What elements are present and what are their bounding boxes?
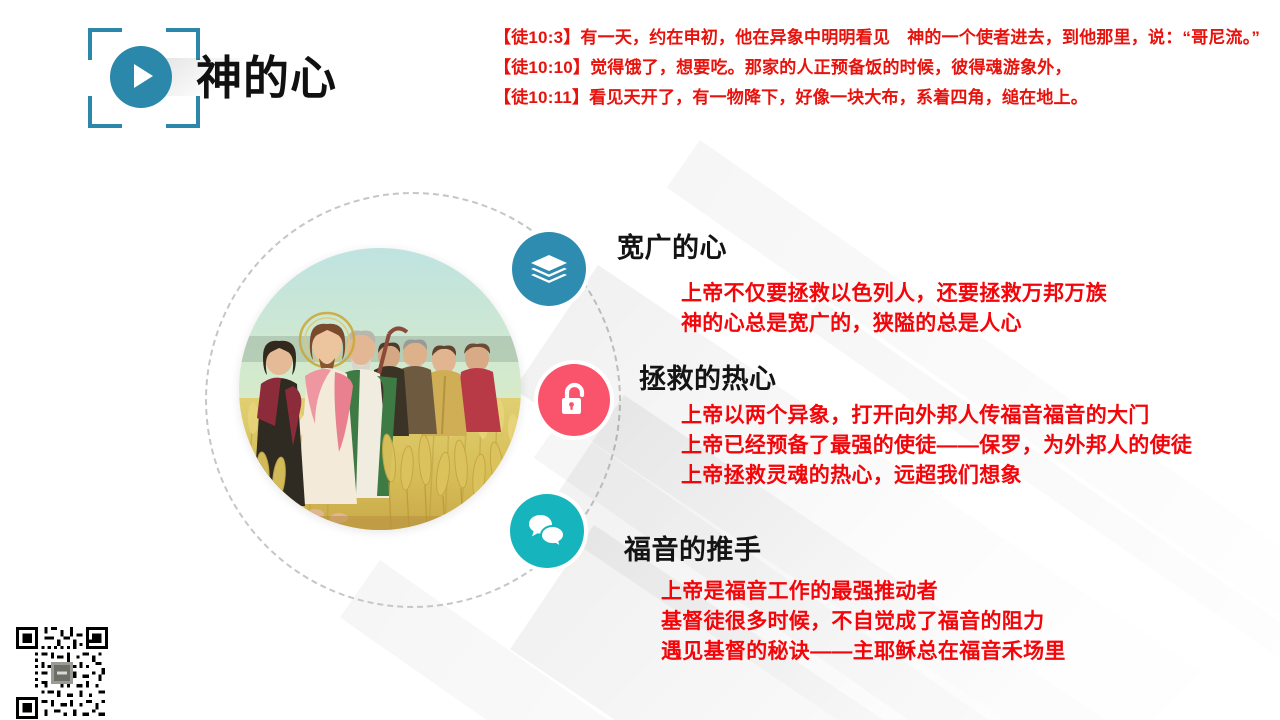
page-title: 神的心 <box>196 42 337 108</box>
layers-icon <box>512 232 586 306</box>
scripture-block: 【徒10:3】有一天，约在申初，他在异象中明明看见 神的一个使者进去，到他那里，… <box>494 26 1280 110</box>
play-button-icon[interactable] <box>110 46 172 108</box>
section-line: 上帝已经预备了最强的使徒——保罗，为外邦人的使徒 <box>681 431 1192 461</box>
section-body-zeal-to-save: 上帝以两个异象，打开向外邦人传福音福音的大门 上帝已经预备了最强的使徒——保罗，… <box>681 401 1192 490</box>
section-body-gospel-promoter: 上帝是福音工作的最强推动者 基督徒很多时候，不自觉成了福音的阻力 遇见基督的秘诀… <box>661 577 1066 666</box>
section-line: 基督徒很多时候，不自觉成了福音的阻力 <box>661 607 1066 637</box>
slide-canvas: 神的心 【徒10:3】有一天，约在申初，他在异象中明明看见 神的一个使者进去，到… <box>0 0 1280 720</box>
hero-photo <box>239 248 521 530</box>
section-node-gospel-promoter[interactable] <box>506 490 588 572</box>
qr-code-icon[interactable] <box>16 627 108 719</box>
brand-logo[interactable] <box>88 28 200 128</box>
section-heading-broad-heart: 宽广的心 <box>617 226 727 265</box>
unlock-icon <box>538 364 610 436</box>
section-body-broad-heart: 上帝不仅要拯救以色列人，还要拯救万邦万族 神的心总是宽广的，狭隘的总是人心 <box>681 279 1107 339</box>
section-line: 神的心总是宽广的，狭隘的总是人心 <box>681 309 1107 339</box>
section-heading-zeal-to-save: 拯救的热心 <box>639 357 777 396</box>
section-line: 上帝不仅要拯救以色列人，还要拯救万邦万族 <box>681 279 1107 309</box>
section-node-broad-heart[interactable] <box>508 228 590 310</box>
section-node-zeal-to-save[interactable] <box>534 360 614 440</box>
section-line: 上帝是福音工作的最强推动者 <box>661 577 1066 607</box>
scripture-line: 【徒10:10】觉得饿了，想要吃。那家的人正预备饭的时候，彼得魂游象外， <box>494 56 1280 80</box>
scripture-line: 【徒10:11】看见天开了，有一物降下，好像一块大布，系着四角，缒在地上。 <box>494 86 1280 110</box>
section-heading-gospel-promoter: 福音的推手 <box>624 528 762 567</box>
section-line: 上帝以两个异象，打开向外邦人传福音福音的大门 <box>681 401 1192 431</box>
scripture-line: 【徒10:3】有一天，约在申初，他在异象中明明看见 神的一个使者进去，到他那里，… <box>494 26 1280 50</box>
section-line: 遇见基督的秘诀——主耶稣总在福音禾场里 <box>661 637 1066 667</box>
section-line: 上帝拯救灵魂的热心，远超我们想象 <box>681 461 1192 491</box>
chat-bubbles-icon <box>510 494 584 568</box>
